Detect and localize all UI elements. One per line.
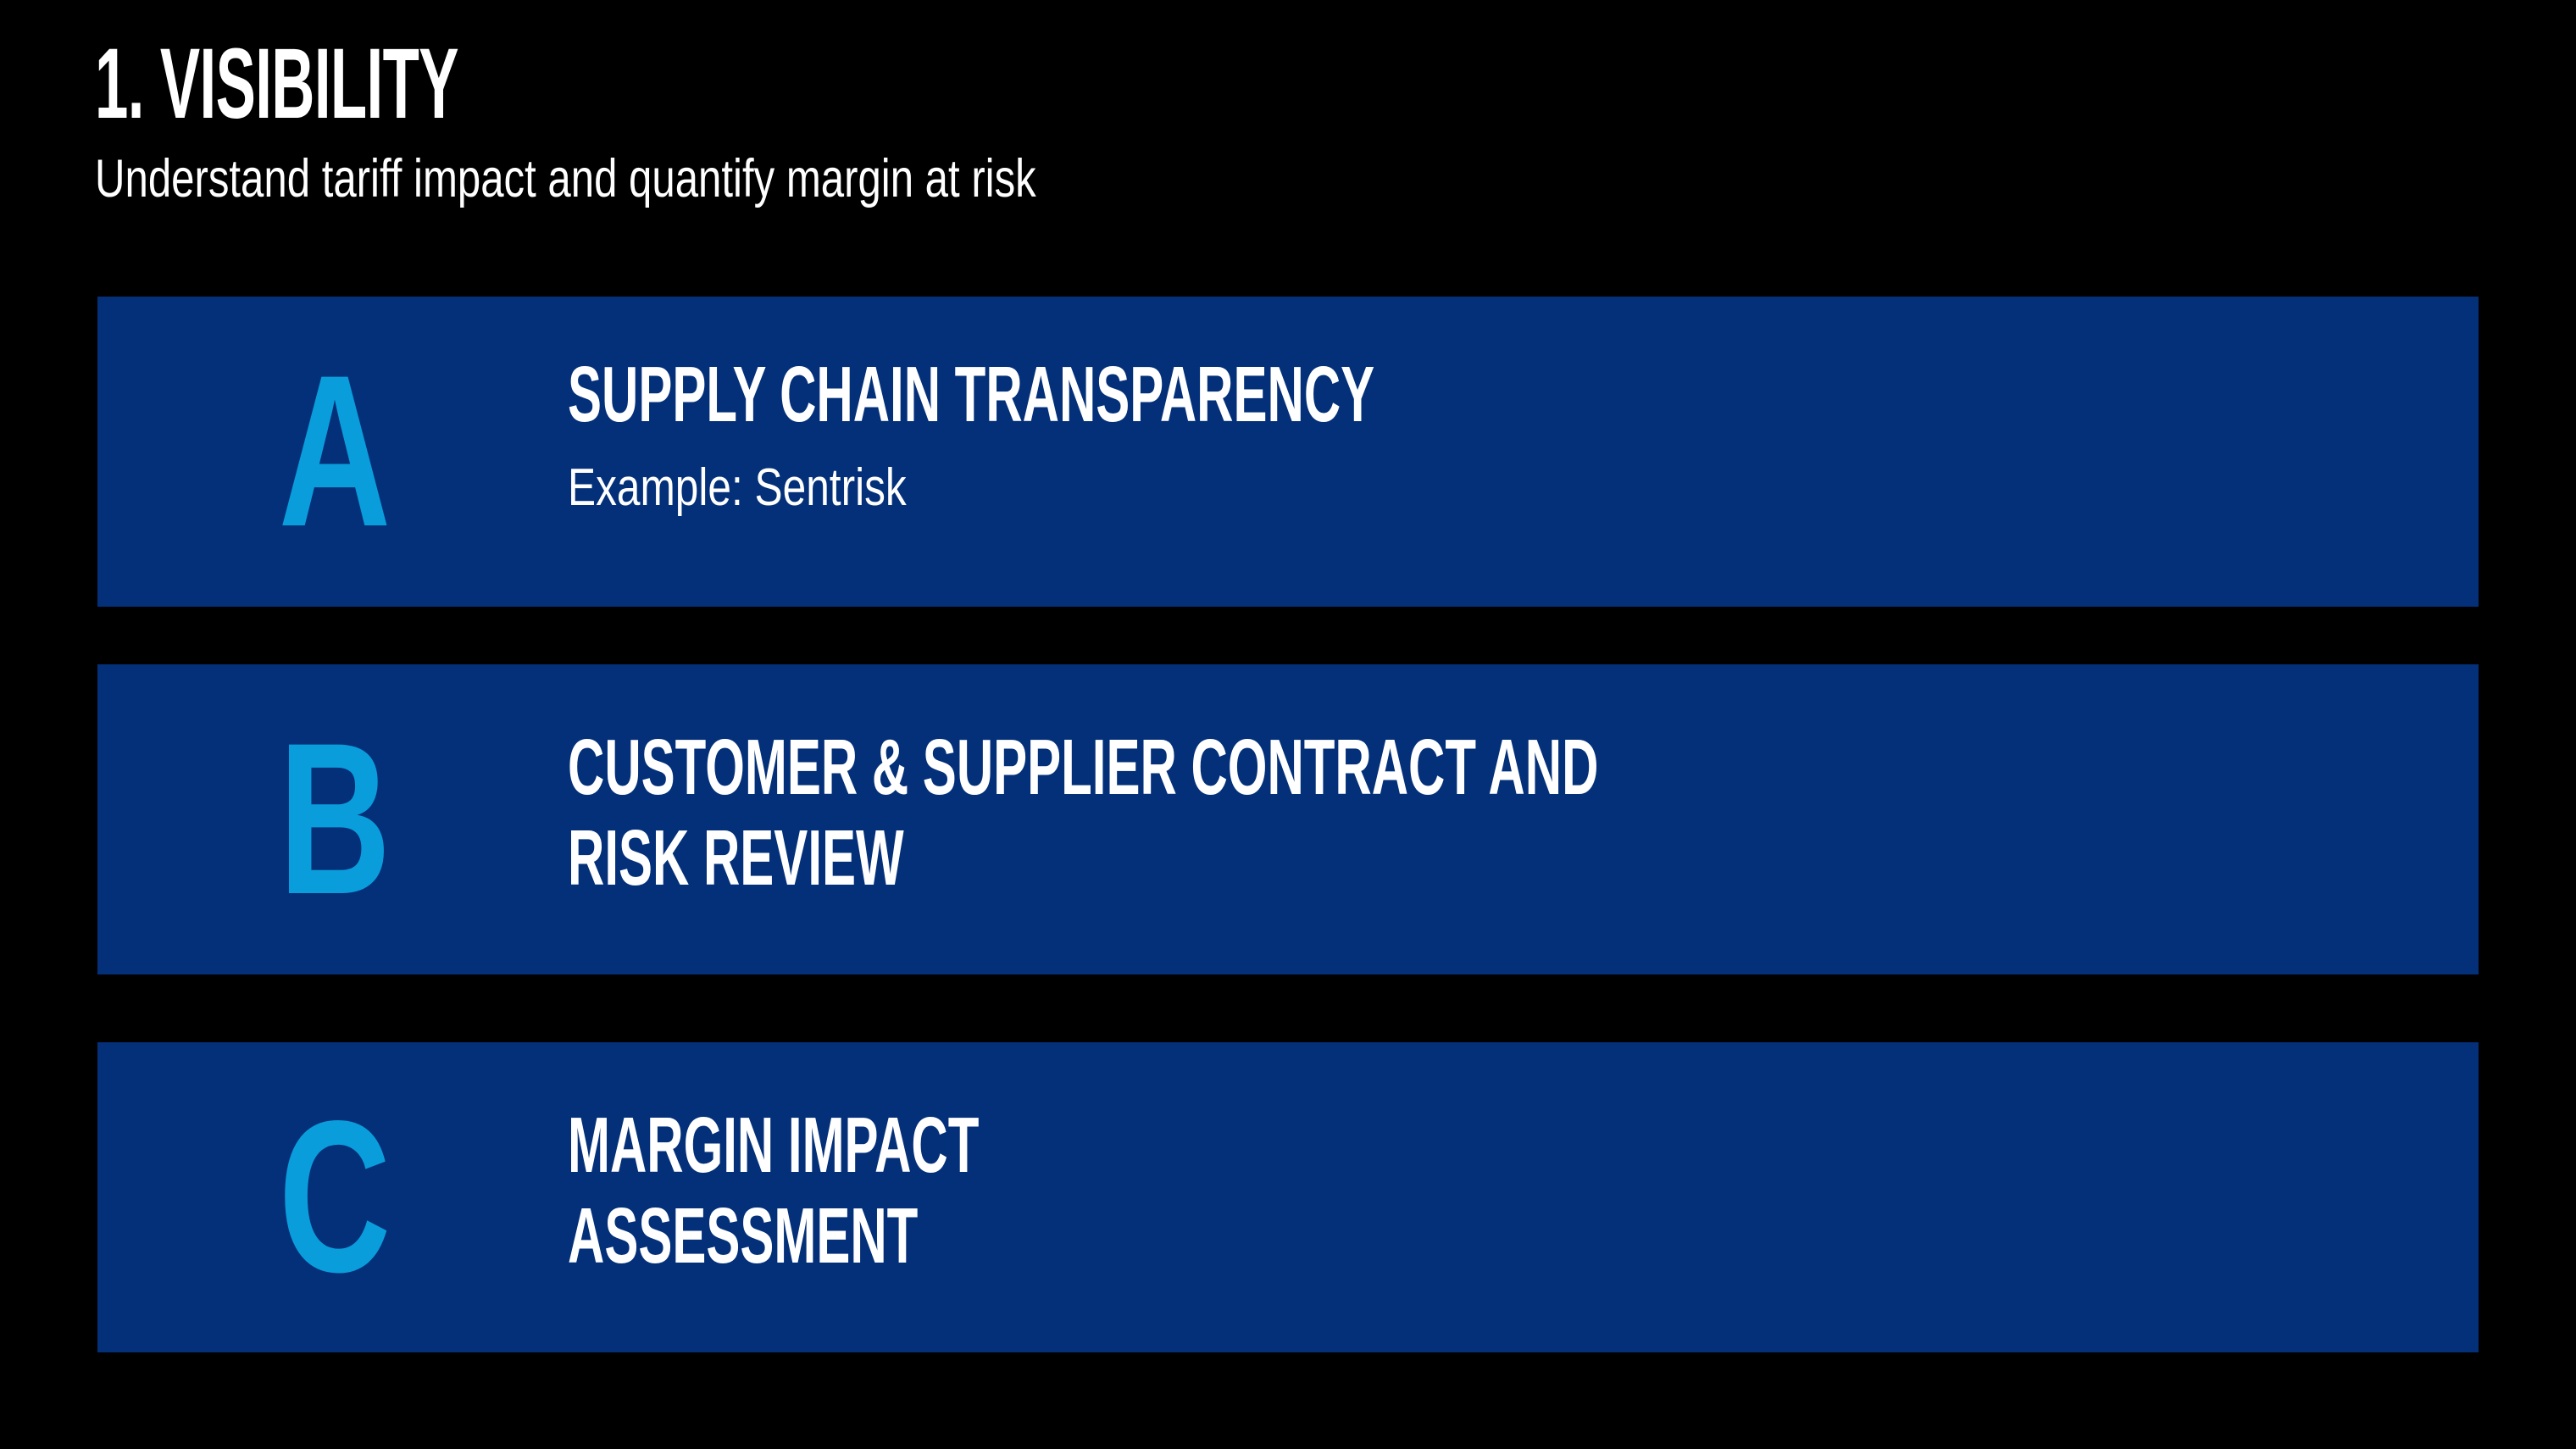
card-letter-badge: B bbox=[243, 664, 426, 974]
list-item[interactable]: B CUSTOMER & SUPPLIER CONTRACT AND RISK … bbox=[97, 664, 2479, 974]
list-item[interactable]: A SUPPLY CHAIN TRANSPARENCY Example: Sen… bbox=[97, 297, 2479, 607]
card-letter-badge: C bbox=[243, 1042, 426, 1352]
list-item[interactable]: C MARGIN IMPACT ASSESSMENT bbox=[97, 1042, 2479, 1352]
card-title: SUPPLY CHAIN TRANSPARENCY bbox=[568, 349, 2359, 440]
card-letter-badge: A bbox=[243, 297, 426, 607]
page-title: 1. VISIBILITY bbox=[95, 34, 1264, 134]
card-list: A SUPPLY CHAIN TRANSPARENCY Example: Sen… bbox=[97, 297, 2479, 1352]
card-title: CUSTOMER & SUPPLIER CONTRACT AND RISK RE… bbox=[568, 722, 2359, 903]
page-subtitle: Understand tariff impact and quantify ma… bbox=[95, 153, 1615, 206]
slide-header: 1. VISIBILITY Understand tariff impact a… bbox=[95, 34, 2044, 206]
slide-canvas: 1. VISIBILITY Understand tariff impact a… bbox=[0, 0, 2576, 1449]
card-content: SUPPLY CHAIN TRANSPARENCY Example: Sentr… bbox=[568, 297, 2419, 607]
card-content: CUSTOMER & SUPPLIER CONTRACT AND RISK RE… bbox=[568, 664, 2419, 974]
card-title: MARGIN IMPACT ASSESSMENT bbox=[568, 1100, 2359, 1281]
card-content: MARGIN IMPACT ASSESSMENT bbox=[568, 1042, 2419, 1352]
card-subtitle: Example: Sentrisk bbox=[568, 462, 2479, 514]
